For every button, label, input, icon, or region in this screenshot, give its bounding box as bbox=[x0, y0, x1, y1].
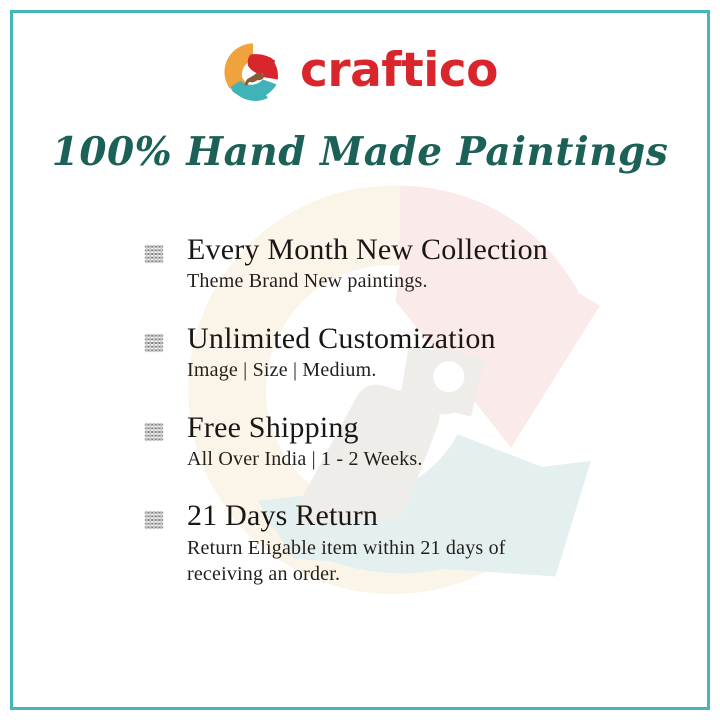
list-item: Unlimited Customization Image | Size | M… bbox=[143, 321, 613, 384]
woven-grid-square-icon bbox=[143, 332, 165, 354]
feature-title: Every Month New Collection bbox=[187, 232, 613, 267]
list-item: Free Shipping All Over India | 1 - 2 Wee… bbox=[143, 410, 613, 473]
list-item: 21 Days Return Return Eligable item with… bbox=[143, 498, 613, 587]
brand-wordmark: craftico bbox=[300, 47, 498, 97]
feature-title: Unlimited Customization bbox=[187, 321, 613, 356]
promo-banner: craftico 100% Hand Made Paintings bbox=[0, 0, 720, 720]
craftico-c-paintbrush-logo-icon bbox=[222, 41, 284, 103]
feature-title: Free Shipping bbox=[187, 410, 613, 445]
woven-grid-square-icon bbox=[143, 509, 165, 531]
feature-subtitle: Return Eligable item within 21 days of r… bbox=[187, 535, 547, 588]
feature-subtitle: Image | Size | Medium. bbox=[187, 357, 613, 383]
feature-list: Every Month New Collection Theme Brand N… bbox=[143, 232, 613, 588]
brand-logo-lockup: craftico bbox=[0, 32, 720, 112]
feature-subtitle: Theme Brand New paintings. bbox=[187, 268, 613, 294]
feature-title: 21 Days Return bbox=[187, 498, 613, 533]
list-item: Every Month New Collection Theme Brand N… bbox=[143, 232, 613, 295]
woven-grid-square-icon bbox=[143, 243, 165, 265]
page-title: 100% Hand Made Paintings bbox=[0, 131, 720, 174]
woven-grid-square-icon bbox=[143, 421, 165, 443]
feature-subtitle: All Over India | 1 - 2 Weeks. bbox=[187, 446, 613, 472]
